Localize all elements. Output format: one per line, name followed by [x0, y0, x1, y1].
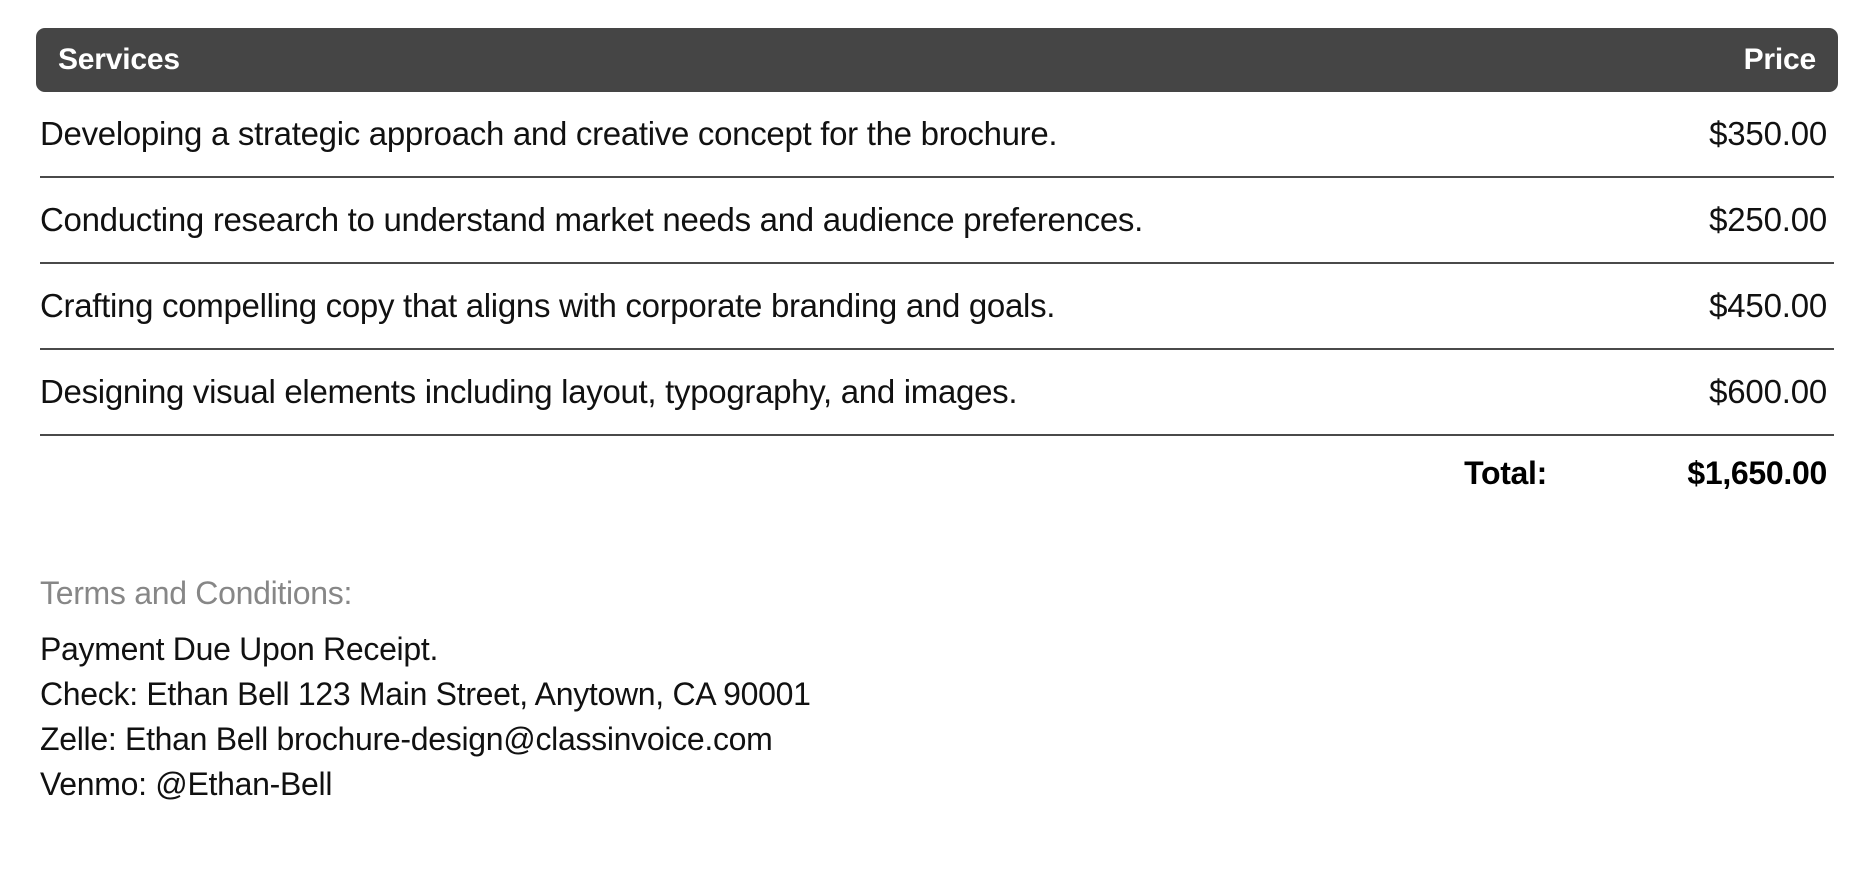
total-value: $1,650.00 — [1617, 455, 1827, 492]
invoice-document: Services Price Developing a strategic ap… — [0, 0, 1868, 870]
line-item-description: Developing a strategic approach and crea… — [40, 115, 1057, 153]
line-item-description: Conducting research to understand market… — [40, 201, 1143, 239]
terms-line-venmo: Venmo: @Ethan-Bell — [40, 762, 1340, 807]
terms-line-check: Check: Ethan Bell 123 Main Street, Anyto… — [40, 672, 1340, 717]
total-row: Total: $1,650.00 — [40, 436, 1834, 510]
total-label: Total: — [1464, 455, 1547, 492]
terms-and-conditions-section: Terms and Conditions: Payment Due Upon R… — [40, 577, 1340, 807]
column-header-services: Services — [58, 45, 180, 75]
terms-line-zelle: Zelle: Ethan Bell brochure-design@classi… — [40, 717, 1340, 762]
table-row: Designing visual elements including layo… — [40, 350, 1834, 436]
table-body: Developing a strategic approach and crea… — [36, 92, 1838, 510]
terms-heading: Terms and Conditions: — [40, 577, 1340, 609]
line-item-description: Designing visual elements including layo… — [40, 373, 1017, 411]
column-header-price: Price — [1744, 45, 1816, 75]
line-item-price: $350.00 — [1709, 115, 1827, 153]
line-item-price: $250.00 — [1709, 201, 1827, 239]
line-item-price: $450.00 — [1709, 287, 1827, 325]
line-item-price: $600.00 — [1709, 373, 1827, 411]
services-price-table: Services Price Developing a strategic ap… — [36, 28, 1838, 510]
table-header-row: Services Price — [36, 28, 1838, 92]
table-row: Developing a strategic approach and crea… — [40, 92, 1834, 178]
terms-line-payment-due: Payment Due Upon Receipt. — [40, 627, 1340, 672]
table-row: Conducting research to understand market… — [40, 178, 1834, 264]
line-item-description: Crafting compelling copy that aligns wit… — [40, 287, 1055, 325]
table-row: Crafting compelling copy that aligns wit… — [40, 264, 1834, 350]
